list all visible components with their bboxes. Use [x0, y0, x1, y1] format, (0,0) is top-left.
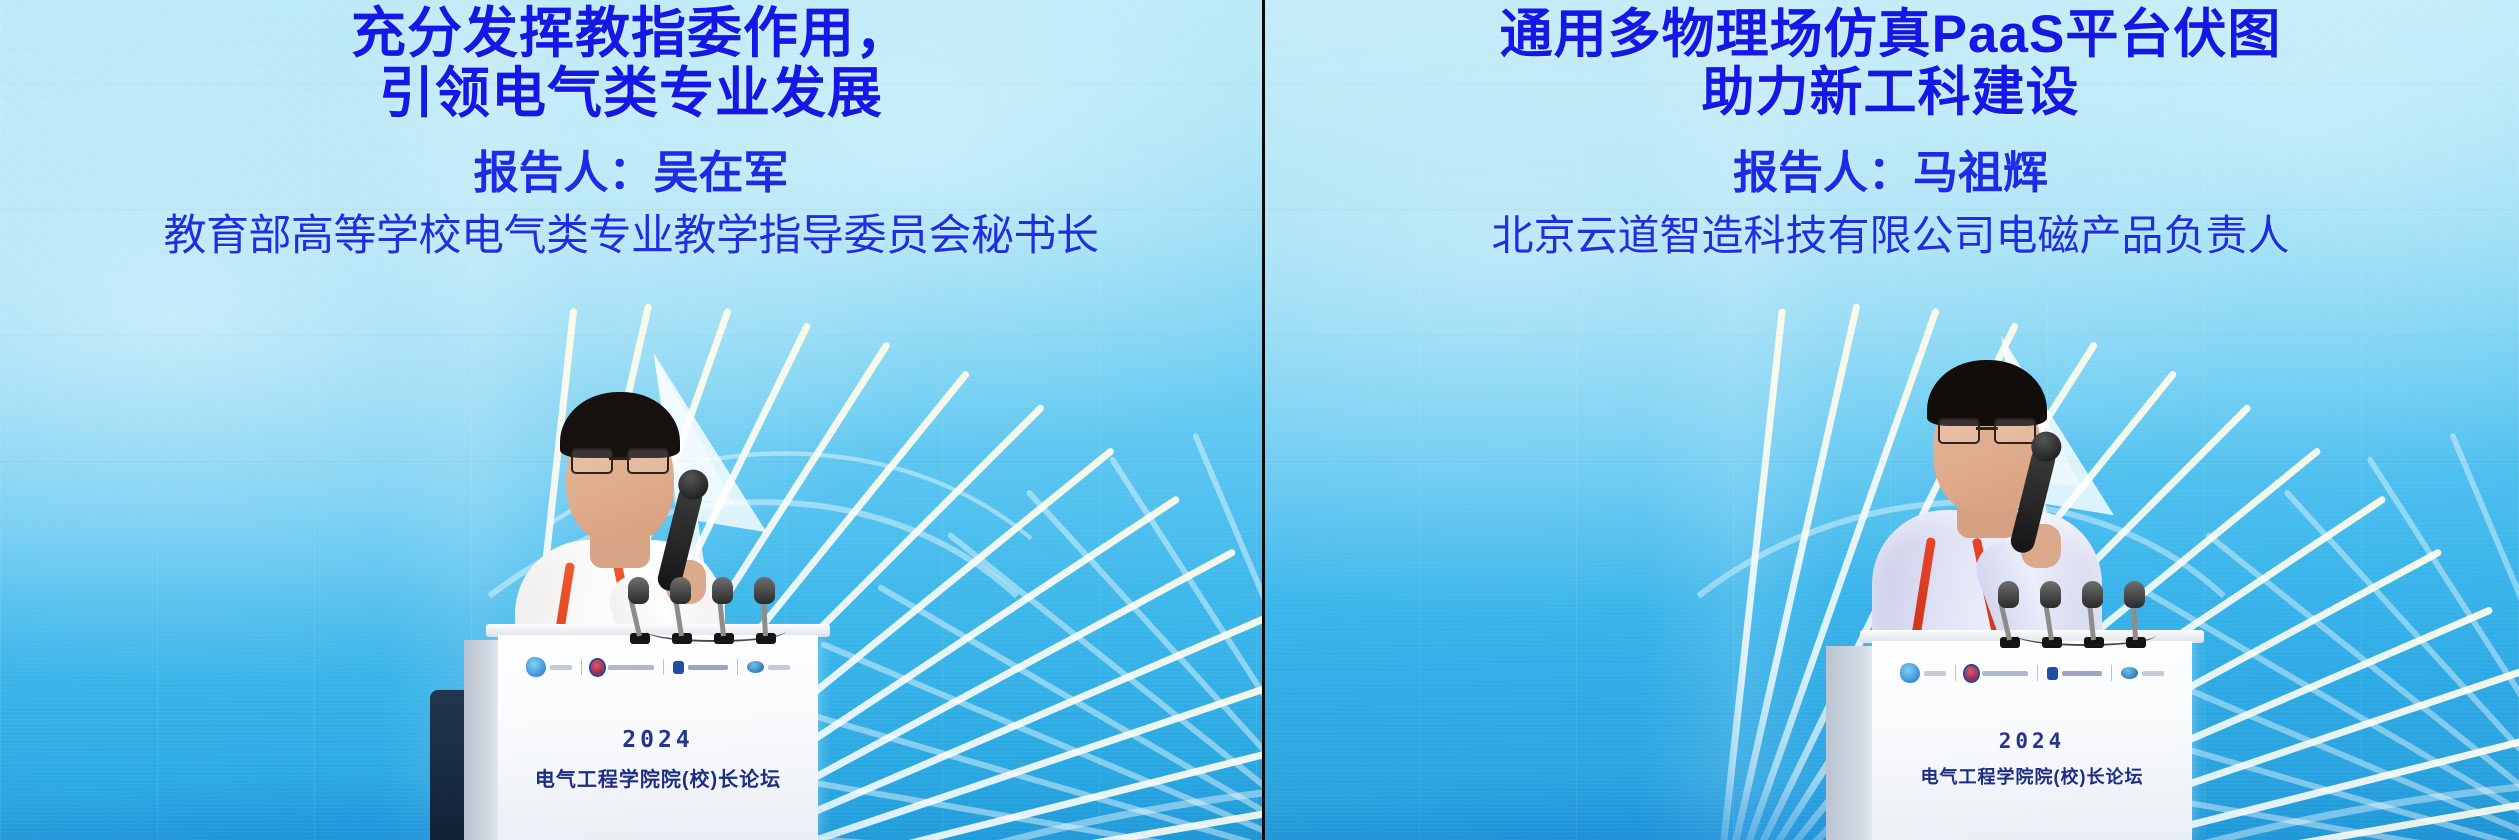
podium-side-panel — [1826, 646, 1874, 840]
slide-title-left: 充分发挥教指委作用， 引领电气类专业发展 — [0, 4, 1262, 124]
logo-divider — [581, 659, 582, 675]
screenshot-root: 充分发挥教指委作用， 引领电气类专业发展 报告人：吴在军 教育部高等学校电气类专… — [0, 0, 2519, 840]
slide-title-line-1: 充分发挥教指委作用， — [0, 4, 1262, 64]
logo-wordmark — [550, 665, 572, 670]
slide-title-right: 通用多物理场仿真PaaS平台伏图 助力新工科建设 — [1262, 6, 2519, 122]
podium-front-panel: 2024 电气工程学院院(校)长论坛 — [1872, 641, 2192, 840]
sponsor-logo-1 — [526, 657, 572, 677]
logo-wordmark — [1982, 671, 2028, 676]
slide-title-line-2: 助力新工科建设 — [1262, 64, 2519, 122]
slide-text-left: 充分发挥教指委作用， 引领电气类专业发展 报告人：吴在军 教育部高等学校电气类专… — [0, 0, 1262, 263]
podium-right: 2024 电气工程学院院(校)长论坛 — [1872, 630, 2192, 840]
podium-forum-name: 电气工程学院院(校)长论坛 — [498, 763, 818, 792]
podium-year: 2024 — [1872, 729, 2192, 753]
slide-title-line-1: 通用多物理场仿真PaaS平台伏图 — [1262, 6, 2519, 64]
slide-speaker-left: 报告人：吴在军 — [0, 146, 1262, 199]
logo-wordmark — [768, 665, 790, 670]
sponsor-logo-1 — [1900, 663, 1946, 683]
university-seal-icon — [591, 660, 604, 675]
logo-divider — [737, 659, 738, 675]
glasses-icon — [1938, 418, 2036, 440]
logo-wordmark — [688, 665, 728, 670]
podium-year: 2024 — [498, 727, 818, 753]
podium-logo-strip — [498, 657, 818, 677]
logo-divider — [2037, 665, 2038, 681]
sponsor-logo-4 — [2121, 667, 2164, 679]
microphone-cable — [646, 620, 786, 642]
swoosh-logo-icon — [1900, 663, 1920, 683]
logo-divider — [663, 659, 664, 675]
slide-title-line-2: 引领电气类专业发展 — [0, 64, 1262, 124]
sponsor-logo-2 — [1965, 666, 2028, 681]
logo-wordmark — [608, 665, 654, 670]
photo-panel-left: 充分发挥教指委作用， 引领电气类专业发展 报告人：吴在军 教育部高等学校电气类专… — [0, 0, 1262, 840]
shield-logo-icon — [673, 661, 684, 674]
slide-affiliation-left: 教育部高等学校电气类专业教学指导委员会秘书长 — [0, 211, 1262, 263]
sponsor-logo-3 — [673, 661, 728, 674]
sponsor-logo-4 — [747, 661, 790, 673]
podium-logo-strip — [1872, 663, 2192, 683]
photo-panel-right: 通用多物理场仿真PaaS平台伏图 助力新工科建设 报告人：马祖辉 北京云道智造科… — [1262, 0, 2519, 840]
logo-wordmark — [2142, 671, 2164, 676]
podium-left: 2024 电气工程学院院(校)长论坛 — [498, 624, 818, 840]
microphone-array-left — [630, 574, 820, 644]
microphone-cable — [2016, 624, 2156, 646]
logo-divider — [1955, 665, 1956, 681]
glasses-icon — [571, 448, 669, 470]
microphone-array-right — [2000, 578, 2190, 648]
university-seal-icon — [1965, 666, 1978, 681]
slide-speaker-right: 报告人：马祖辉 — [1262, 146, 2519, 199]
shield-logo-icon — [2047, 667, 2058, 680]
logo-wordmark — [1924, 671, 1946, 676]
logo-wordmark — [2062, 671, 2102, 676]
slide-affiliation-right: 北京云道智造科技有限公司电磁产品负责人 — [1262, 211, 2519, 261]
panel-divider — [1262, 0, 1265, 840]
globe-logo-icon — [2121, 667, 2138, 679]
sponsor-logo-3 — [2047, 667, 2102, 680]
slide-text-right: 通用多物理场仿真PaaS平台伏图 助力新工科建设 报告人：马祖辉 北京云道智造科… — [1262, 0, 2519, 261]
logo-divider — [2111, 665, 2112, 681]
podium-forum-name: 电气工程学院院(校)长论坛 — [1872, 763, 2192, 789]
globe-logo-icon — [747, 661, 764, 673]
speaker-hair — [1927, 360, 2047, 426]
podium-front-panel: 2024 电气工程学院院(校)长论坛 — [498, 635, 818, 840]
sponsor-logo-2 — [591, 660, 654, 675]
podium-side-panel — [464, 640, 500, 840]
swoosh-logo-icon — [526, 657, 546, 677]
